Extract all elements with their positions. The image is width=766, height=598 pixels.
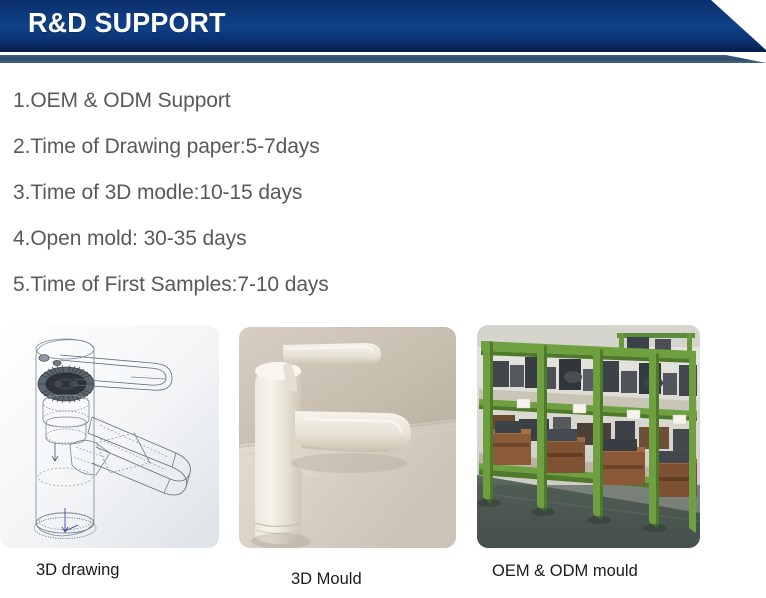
rd-support-spec-list: 1.OEM & ODM Support 2.Time of Drawing pa… <box>13 78 613 308</box>
cad-wireframe-illustration <box>0 325 219 548</box>
list-item: 2.Time of Drawing paper:5-7days <box>13 124 613 170</box>
caption-3d-drawing: 3D drawing <box>36 561 119 580</box>
header-underbar <box>0 55 766 63</box>
photo-3d-drawing <box>0 325 219 548</box>
list-item: 4.Open mold: 30-35 days <box>13 216 613 262</box>
list-item: 5.Time of First Samples:7-10 days <box>13 262 613 308</box>
caption-3d-mould: 3D Mould <box>291 570 362 589</box>
gallery-row: 3D drawing 3D Mould OEM & ODM mould <box>0 325 766 598</box>
caption-oem-odm-mould: OEM & ODM mould <box>492 562 638 581</box>
warehouse-mould-rack-photo <box>477 325 700 548</box>
list-item: 3.Time of 3D modle:10-15 days <box>13 170 613 216</box>
page-header-banner: R&D SUPPORT <box>0 0 766 52</box>
3d-printed-faucet-photo <box>239 327 456 548</box>
page-title: R&D SUPPORT <box>28 7 226 39</box>
header-hairline-divider <box>0 52 766 55</box>
photo-oem-odm-mould <box>477 325 700 548</box>
list-item: 1.OEM & ODM Support <box>13 78 613 124</box>
photo-3d-mould <box>239 327 456 548</box>
